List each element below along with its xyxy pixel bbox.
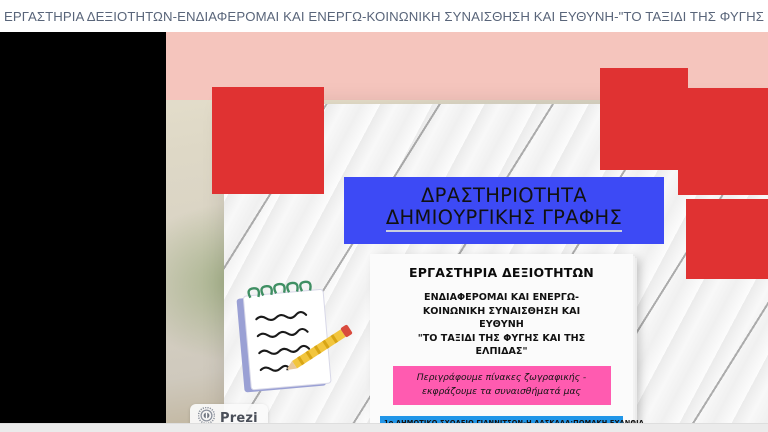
card-pink-highlight-box: Περιγράφουμε πίνακες ζωγραφικής - εκφράζ…	[393, 366, 611, 405]
card-pink-box-text: Περιγράφουμε πίνακες ζωγραφικής - εκφράζ…	[399, 371, 605, 399]
card-blue-banner-text: 1ο ΔΗΜΟΤΙΚΟ ΣΧΟΛΕΙΟ ΓΙΑΝΝΙΤΣΩΝ-Η ΔΑΣΚΑΛΑ…	[384, 419, 619, 423]
red-square-decoration	[212, 87, 324, 194]
red-square-decoration	[678, 88, 768, 195]
card-subtitle: ΕΝΔΙΑΦΕΡΟΜΑΙ ΚΑΙ ΕΝΕΡΓΩ- ΚΟΙΝΩΝΙΚΗ ΣΥΝΑΙ…	[423, 291, 580, 332]
red-square-decoration	[686, 199, 768, 279]
red-square-decoration	[600, 68, 688, 170]
prezi-spiral-icon	[198, 407, 215, 423]
notepad-with-pencil-icon	[228, 278, 360, 396]
presentation-header-bar: ΕΡΓΑΣΤΗΡΙΑ ΔΕΞΙΟΤΗΤΩΝ-ΕΝΔΙΑΦΕΡΟΜΑΙ ΚΑΙ Ε…	[0, 0, 768, 32]
slide-title-line-2: ΔΗΜΙΟΥΡΓΙΚΗΣ ΓΡΑΦΗΣ	[386, 207, 622, 232]
slide-title-line-1: ΔΡΑΣΤΗΡΙΟΤΗΤΑ	[421, 185, 587, 207]
slide-title-block: ΔΡΑΣΤΗΡΙΟΤΗΤΑ ΔΗΜΙΟΥΡΓΙΚΗΣ ΓΡΑΦΗΣ	[344, 177, 664, 244]
presentation-title: ΕΡΓΑΣΤΗΡΙΑ ΔΕΞΙΟΤΗΤΩΝ-ΕΝΔΙΑΦΕΡΟΜΑΙ ΚΑΙ Ε…	[0, 9, 768, 24]
prezi-branding-badge[interactable]: Prezi	[190, 404, 268, 423]
presentation-stage[interactable]: ΔΡΑΣΤΗΡΙΟΤΗΤΑ ΔΗΜΙΟΥΡΓΙΚΗΣ ΓΡΑΦΗΣ ΕΡΓΑΣΤ…	[0, 32, 768, 423]
card-quote: "ΤΟ ΤΑΞΙΔΙ ΤΗΣ ΦΥΓΗΣ ΚΑΙ ΤΗΣ ΕΛΠΙΔΑΣ"	[418, 332, 585, 359]
viewer-bottom-strip	[0, 423, 768, 432]
letterbox-left-panel	[0, 32, 166, 423]
slide-paper-card: ΕΡΓΑΣΤΗΡΙΑ ΔΕΞΙΟΤΗΤΩΝ ΕΝΔΙΑΦΕΡΟΜΑΙ ΚΑΙ Ε…	[370, 254, 633, 423]
prezi-label: Prezi	[220, 411, 258, 424]
prezi-presentation-viewer: ΕΡΓΑΣΤΗΡΙΑ ΔΕΞΙΟΤΗΤΩΝ-ΕΝΔΙΑΦΕΡΟΜΑΙ ΚΑΙ Ε…	[0, 0, 768, 432]
card-blue-footer-banner: 1ο ΔΗΜΟΤΙΚΟ ΣΧΟΛΕΙΟ ΓΙΑΝΝΙΤΣΩΝ-Η ΔΑΣΚΑΛΑ…	[380, 416, 623, 423]
card-heading: ΕΡΓΑΣΤΗΡΙΑ ΔΕΞΙΟΤΗΤΩΝ	[409, 265, 594, 280]
